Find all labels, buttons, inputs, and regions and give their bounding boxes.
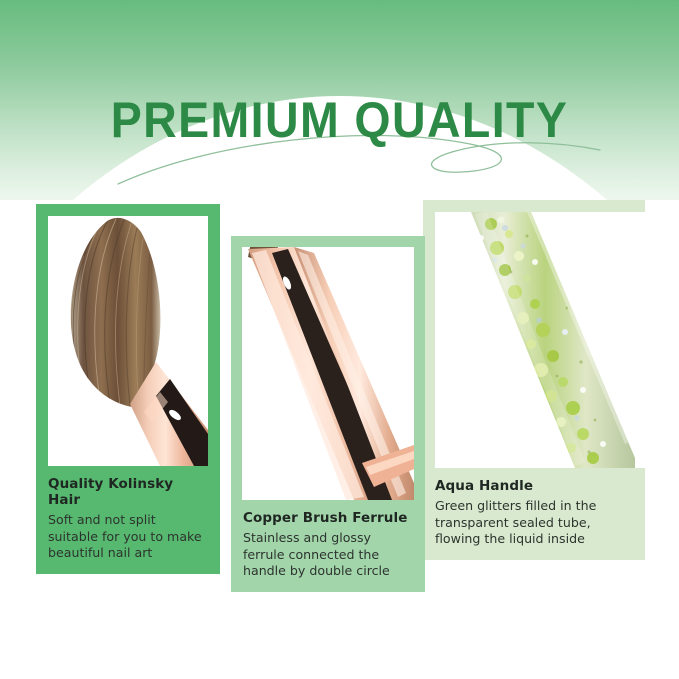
- card-caption: Aqua Handle Green glitters filled in the…: [423, 468, 645, 560]
- card-caption: Copper Brush Ferrule Stainless and gloss…: [231, 500, 425, 592]
- page-title: PREMIUM QUALITY: [24, 95, 655, 145]
- brush-head-photo: [48, 216, 208, 466]
- card-heading: Aqua Handle: [435, 478, 633, 494]
- card-caption: Quality Kolinsky Hair Soft and not split…: [36, 466, 220, 574]
- card-body: Green glitters filled in the transparent…: [435, 498, 633, 548]
- page-title-wrap: PREMIUM QUALITY: [0, 95, 679, 145]
- card-body: Soft and not split suitable for you to m…: [48, 512, 208, 562]
- card-body: Stainless and glossy ferrule connected t…: [243, 530, 413, 580]
- feature-card-kolinsky-hair: Quality Kolinsky Hair Soft and not split…: [36, 204, 220, 574]
- feature-card-aqua-handle: Aqua Handle Green glitters filled in the…: [423, 200, 645, 560]
- glitter-handle-photo: [435, 212, 645, 468]
- feature-card-copper-ferrule: Copper Brush Ferrule Stainless and gloss…: [231, 236, 425, 592]
- card-heading: Quality Kolinsky Hair: [48, 476, 208, 508]
- ferrule-photo: [242, 247, 414, 500]
- card-heading: Copper Brush Ferrule: [243, 510, 413, 526]
